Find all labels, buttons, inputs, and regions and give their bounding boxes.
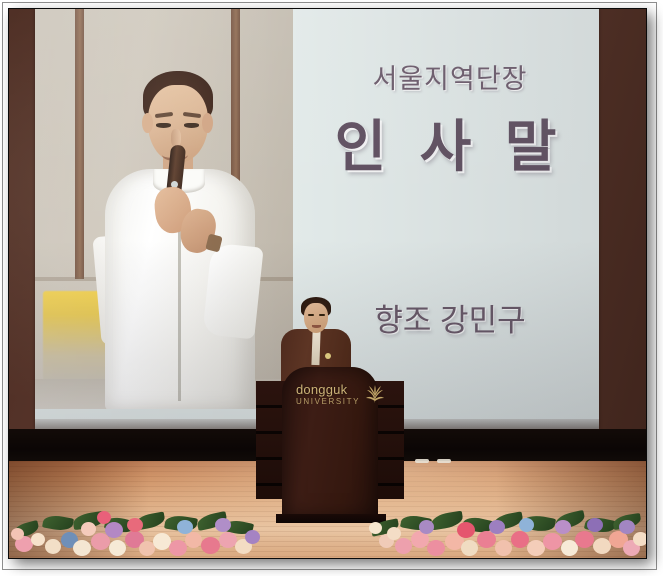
speaker-eye-left <box>308 314 314 316</box>
floor-debris <box>437 459 451 463</box>
slide-headline: 인 사 말 <box>307 102 593 183</box>
slide-title-block: 서울지역단장 인 사 말 <box>307 57 593 183</box>
portrait-sleeve-left <box>202 243 263 340</box>
photograph-content: 서울지역단장 인 사 말 향조 강민구 <box>9 9 646 558</box>
lotus-leaf-emblem-icon <box>364 384 386 409</box>
portrait-eye-left <box>156 123 171 128</box>
logo-name: dongguk <box>296 383 360 396</box>
portrait-ear-right <box>202 113 213 133</box>
screenshot-root: 서울지역단장 인 사 말 향조 강민구 <box>0 0 663 576</box>
speaker-mouth <box>312 325 321 328</box>
speaker-inner-collar <box>311 331 320 365</box>
speaker-lapel-badge <box>325 353 331 359</box>
slide-kicker: 서울지역단장 <box>307 57 593 96</box>
portrait-eye-right <box>184 123 199 128</box>
portrait-ear-left <box>142 113 153 133</box>
speaker-eye-right <box>319 314 325 316</box>
flower-arrangement-right <box>361 496 646 558</box>
floor-debris <box>415 459 429 463</box>
logo-subtitle: UNIVERSITY <box>296 398 360 406</box>
flower-arrangement-left <box>9 496 259 558</box>
speaker-face <box>304 303 328 333</box>
wall-divider-left <box>75 9 84 279</box>
projected-portrait-photo <box>35 9 293 409</box>
photograph: 서울지역단장 인 사 말 향조 강민구 <box>8 8 647 559</box>
dongguk-university-logo: dongguk UNIVERSITY <box>296 383 386 409</box>
slide-subtitle: 향조 강민구 <box>307 295 593 340</box>
logo-wordmark: dongguk UNIVERSITY <box>296 383 360 406</box>
